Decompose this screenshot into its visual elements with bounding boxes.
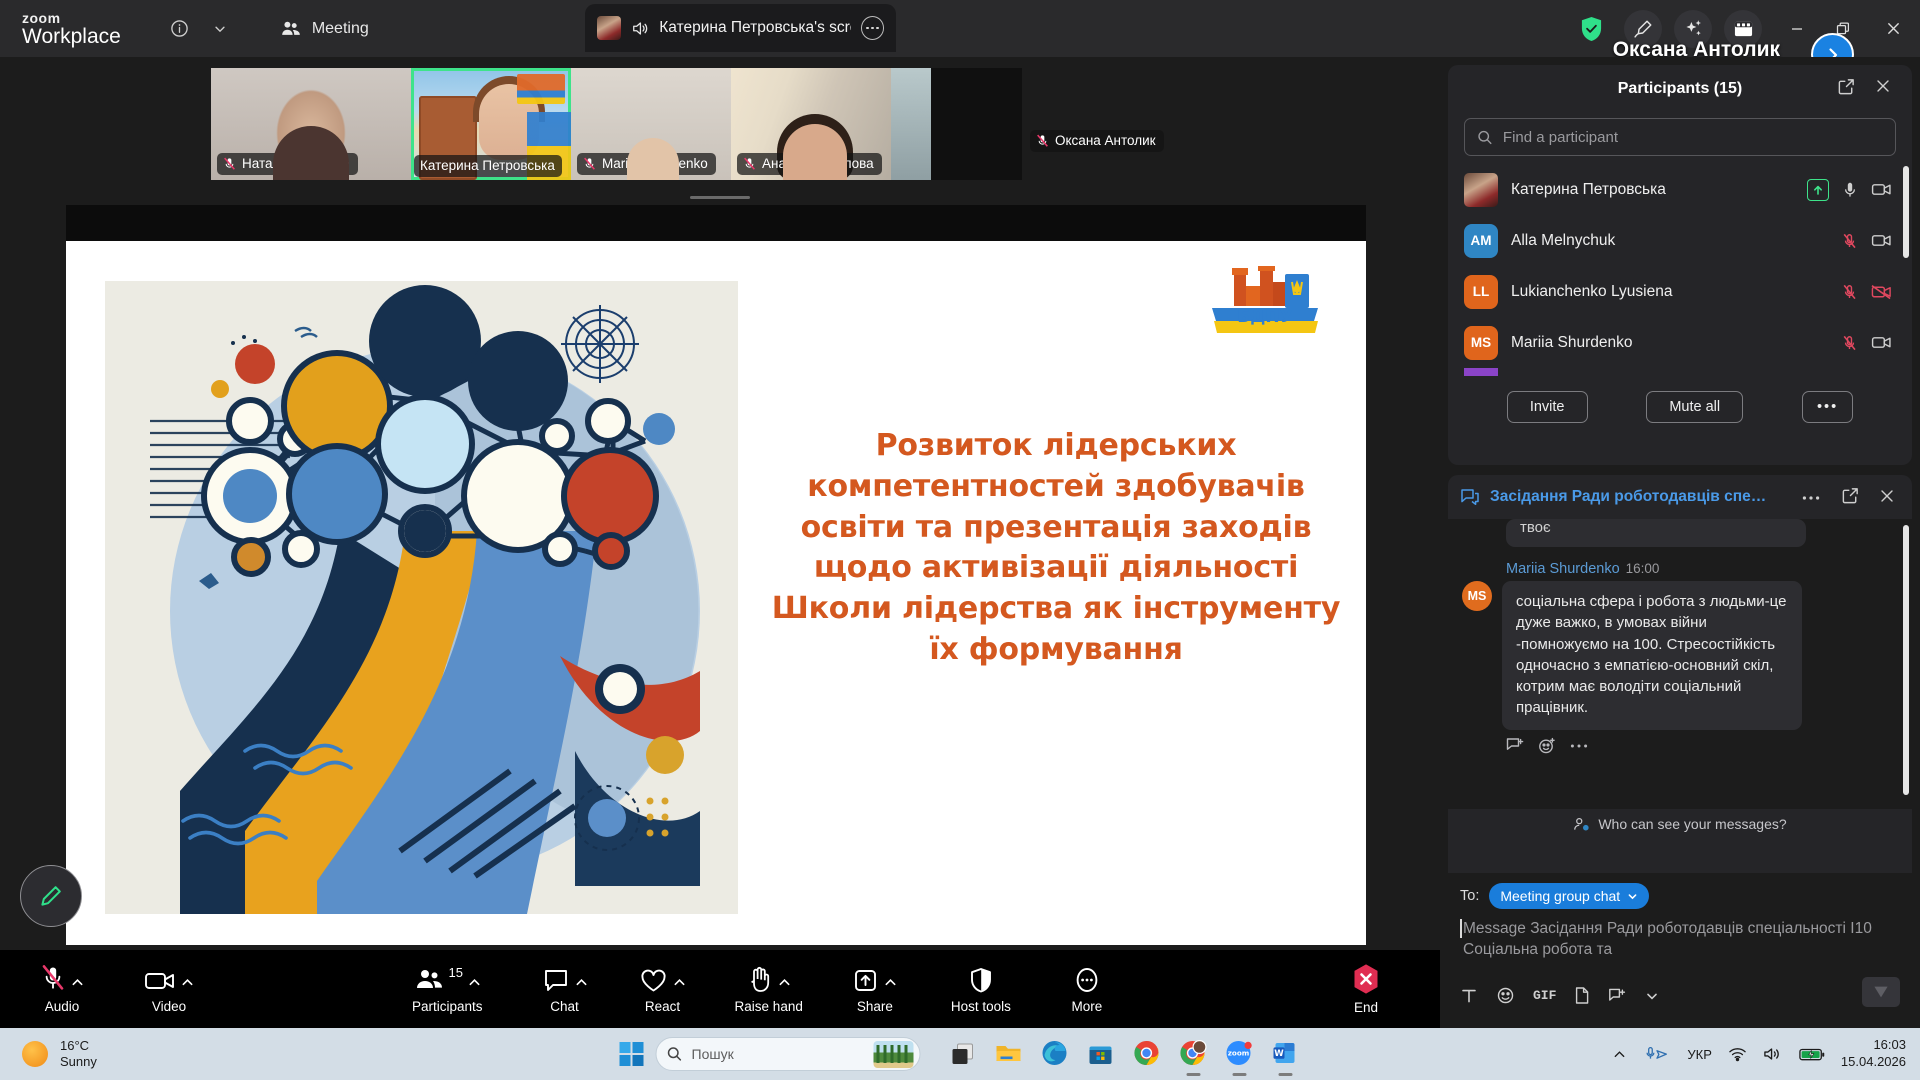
chevron-up-icon xyxy=(468,976,481,989)
more-dots-icon xyxy=(1073,964,1101,994)
gif-icon[interactable]: GIF xyxy=(1533,988,1556,1003)
more-button[interactable]: More xyxy=(1063,964,1111,1014)
taskbar-center: Пошук xyxy=(620,1037,1301,1071)
video-thumb[interactable]: Анастасія Попова xyxy=(731,68,891,180)
end-meeting-button[interactable]: End xyxy=(1350,963,1382,1015)
taskbar-search[interactable]: Пошук xyxy=(656,1037,921,1071)
meeting-tab-label: Meeting xyxy=(312,20,369,38)
emoji-icon[interactable] xyxy=(1496,986,1515,1005)
weather-condition: Sunny xyxy=(60,1054,97,1070)
chat-toolbar: GIF xyxy=(1460,986,1659,1005)
avatar: LL xyxy=(1464,275,1498,309)
chat-panel: Засідання Ради роботодавців спе… твоє xyxy=(1448,475,1912,1015)
microsoft-store-icon[interactable] xyxy=(1087,1039,1117,1069)
chat-button[interactable]: Chat xyxy=(541,964,589,1014)
participants-header: Participants (15) xyxy=(1448,65,1912,112)
right-side-panels: Participants (15) Катерина Пет xyxy=(1440,57,1920,1027)
show-hidden-icons-icon[interactable] xyxy=(1612,1047,1627,1062)
message-actions xyxy=(1506,737,1898,755)
language-indicator[interactable]: УКР xyxy=(1687,1047,1712,1062)
sharing-badge xyxy=(1807,179,1829,201)
clock-date: 15.04.2026 xyxy=(1841,1054,1906,1071)
raise-hand-button[interactable]: Raise hand xyxy=(735,964,803,1014)
people-icon xyxy=(281,20,301,38)
participant-row-partial[interactable] xyxy=(1448,368,1912,376)
chat-message-input[interactable]: Message Засідання Ради роботодавців спец… xyxy=(1460,918,1900,960)
participants-list[interactable]: Катерина Петровська AM Alla Melnychuk xyxy=(1448,164,1912,376)
mic-muted-icon xyxy=(583,157,596,171)
camera-icon[interactable] xyxy=(1871,335,1892,350)
chevron-up-icon xyxy=(181,976,194,989)
participant-name: Mariia Shurdenko xyxy=(1511,334,1632,352)
participants-actions: Invite Mute all ••• xyxy=(1448,376,1912,438)
video-thumb[interactable] xyxy=(891,68,1022,180)
popout-icon[interactable] xyxy=(1841,486,1860,510)
participant-row[interactable]: LL Lukianchenko Lyusiena xyxy=(1448,266,1912,317)
chrome-profile-icon[interactable] xyxy=(1179,1039,1209,1069)
reply-icon[interactable] xyxy=(1506,737,1524,754)
mic-muted-icon xyxy=(1036,134,1049,148)
tab-title: Катерина Петровська's scre xyxy=(659,19,851,37)
screen-share-tab[interactable]: Катерина Петровська's scre xyxy=(585,4,896,52)
chevron-up-icon xyxy=(575,976,588,989)
participants-label: Participants xyxy=(412,999,483,1014)
svg-text:БДПУ: БДПУ xyxy=(1237,307,1292,327)
avatar xyxy=(1464,368,1498,376)
end-call-icon xyxy=(1350,963,1382,995)
mic-muted-icon[interactable] xyxy=(1841,283,1858,301)
video-thumb-label: Катерина Петровська xyxy=(414,155,562,177)
search-icon xyxy=(667,1046,683,1062)
chat-header: Засідання Ради роботодавців спе… xyxy=(1448,475,1912,519)
host-tools-label: Host tools xyxy=(951,999,1011,1014)
end-label: End xyxy=(1354,1000,1378,1015)
participants-more-button[interactable]: ••• xyxy=(1802,391,1853,423)
shield-icon xyxy=(968,964,994,994)
shield-check-icon[interactable] xyxy=(1578,14,1604,44)
slide-title: Розвиток лідерських компетентностей здоб… xyxy=(766,426,1346,671)
message-time: 16:00 xyxy=(1626,561,1660,576)
svg-text:W: W xyxy=(1274,1049,1284,1059)
camera-icon[interactable] xyxy=(1871,233,1892,248)
more-label: More xyxy=(1072,999,1103,1014)
participants-panel: Participants (15) Катерина Пет xyxy=(1448,65,1912,465)
windows-taskbar: 16°C Sunny Пошук xyxy=(0,1028,1920,1080)
share-screen-icon xyxy=(852,964,897,994)
video-thumb-label: Mariia Shurdenko xyxy=(577,153,716,175)
share-button[interactable]: Share xyxy=(851,964,899,1014)
brand-zoom: zoom xyxy=(22,11,121,25)
shared-window-chrome xyxy=(66,205,1366,241)
more-dots-icon[interactable] xyxy=(1570,743,1588,749)
invite-button[interactable]: Invite xyxy=(1507,391,1588,423)
bdpu-university-logo: БДПУ xyxy=(1206,266,1324,338)
video-label: Video xyxy=(152,999,186,1014)
presentation-slide: БДПУ Розвиток лідерських компетентностей… xyxy=(66,241,1366,945)
participants-scrollbar[interactable] xyxy=(1903,166,1909,258)
mute-all-button[interactable]: Mute all xyxy=(1646,391,1743,423)
raise-hand-icon xyxy=(747,964,791,994)
camera-icon[interactable] xyxy=(1871,182,1892,197)
close-icon[interactable] xyxy=(1866,0,1920,57)
format-text-icon[interactable] xyxy=(1460,987,1478,1005)
chrome-icon[interactable] xyxy=(1133,1039,1163,1069)
participants-button[interactable]: 15 Participants xyxy=(412,964,483,1014)
zoom-workplace-logo: zoom Workplace xyxy=(22,11,121,47)
wifi-icon[interactable] xyxy=(1728,1046,1747,1062)
react-button[interactable]: React xyxy=(639,964,687,1014)
file-explorer-icon[interactable] xyxy=(995,1039,1025,1069)
chat-recipient-row: To: Meeting group chat xyxy=(1460,883,1900,909)
file-icon[interactable] xyxy=(1574,986,1590,1005)
camera-off-icon[interactable] xyxy=(1871,284,1892,300)
audio-label: Audio xyxy=(45,999,80,1014)
clock-time: 16:03 xyxy=(1841,1037,1906,1054)
system-tray: УКР 16:03 15.04.2026 xyxy=(1612,1037,1906,1071)
participants-count: 15 xyxy=(449,965,463,980)
more-dots-icon[interactable] xyxy=(1802,488,1820,506)
who-can-see-label: Who can see your messages? xyxy=(1598,816,1786,832)
participants-title: Participants (15) xyxy=(1618,80,1742,98)
video-thumb[interactable]: Наталія Мацейко xyxy=(211,68,411,180)
microphone-muted-icon xyxy=(40,964,84,994)
zoom-icon[interactable]: zoom xyxy=(1225,1039,1255,1069)
network-nodes-illustration xyxy=(105,281,738,914)
audio-button[interactable]: Audio xyxy=(38,964,86,1014)
info-icon[interactable] xyxy=(163,12,197,46)
chat-bubble-icon xyxy=(542,964,588,994)
video-thumb[interactable]: Mariia Shurdenko xyxy=(571,68,731,180)
meeting-tab[interactable]: Meeting xyxy=(271,14,379,44)
react-label: React xyxy=(645,999,680,1014)
volume-icon[interactable] xyxy=(1763,1046,1783,1062)
camera-icon xyxy=(144,964,194,994)
zoom-meeting-window: zoom Workplace Meeting Катери xyxy=(0,0,1920,1080)
mic-muted-icon[interactable] xyxy=(1841,334,1858,352)
popout-icon[interactable] xyxy=(1837,77,1856,101)
avatar: MS xyxy=(1464,326,1498,360)
recipient-value: Meeting group chat xyxy=(1500,888,1620,904)
participant-name: Alla Melnychuk xyxy=(1511,232,1615,250)
search-icon xyxy=(1477,129,1493,146)
search-highlight-image xyxy=(874,1041,914,1068)
send-icon xyxy=(1872,983,1890,1001)
chevron-up-icon xyxy=(71,976,84,989)
participant-name: Катерина Петровська xyxy=(1511,181,1666,199)
taskbar-clock[interactable]: 16:03 15.04.2026 xyxy=(1841,1037,1906,1071)
task-view-icon[interactable] xyxy=(949,1039,979,1069)
to-label: To: xyxy=(1460,888,1479,904)
participant-name: Lukianchenko Lyusiena xyxy=(1511,283,1672,301)
chat-title: Засідання Ради роботодавців спе… xyxy=(1490,488,1766,506)
screenshot-icon[interactable] xyxy=(1608,987,1627,1005)
tab-more-icon[interactable] xyxy=(861,16,884,40)
host-tools-button[interactable]: Host tools xyxy=(951,964,1011,1014)
raise-hand-label: Raise hand xyxy=(735,999,803,1014)
taskbar-apps: zoom W xyxy=(949,1039,1301,1069)
emoji-add-icon[interactable] xyxy=(1538,737,1556,755)
video-button[interactable]: Video xyxy=(144,964,194,1014)
avatar xyxy=(1464,173,1498,207)
participants-icon: 15 xyxy=(414,964,481,994)
drag-handle[interactable] xyxy=(690,196,750,199)
message-bubble: соціальна сфера і робота з людьми-це дуж… xyxy=(1502,581,1802,730)
chat-message: MS соціальна сфера і робота з людьми-це … xyxy=(1462,581,1898,730)
chat-label: Chat xyxy=(550,999,579,1014)
recipient-dropdown[interactable]: Meeting group chat xyxy=(1489,883,1649,909)
close-icon[interactable] xyxy=(1878,487,1896,510)
avatar: AM xyxy=(1464,224,1498,258)
chevron-down-icon[interactable] xyxy=(203,12,237,46)
person-shield-icon xyxy=(1573,817,1590,832)
close-icon[interactable] xyxy=(1874,77,1892,100)
brand-workplace: Workplace xyxy=(22,26,121,47)
message-meta: Mariia Shurdenko16:00 xyxy=(1506,561,1898,577)
video-filmstrip[interactable]: Наталія Мацейко Катерина Петровська Mari… xyxy=(211,68,1022,180)
edge-icon[interactable] xyxy=(1041,1039,1071,1069)
chat-input-area: To: Meeting group chat Message Засідання… xyxy=(1448,873,1912,1015)
previous-message-partial: твоє xyxy=(1506,519,1806,547)
tab-avatar xyxy=(597,16,621,40)
svg-text:zoom: zoom xyxy=(1228,1049,1250,1058)
mic-muted-icon[interactable] xyxy=(1841,232,1858,250)
windows-start-icon[interactable] xyxy=(620,1042,644,1066)
chevron-down-icon[interactable] xyxy=(1645,989,1659,1003)
avatar: MS xyxy=(1462,581,1492,611)
search-input[interactable] xyxy=(1503,129,1883,146)
video-thumb-label: Оксана Антолик xyxy=(1030,130,1164,152)
speaker-icon xyxy=(631,20,649,37)
video-thumb-active[interactable]: Катерина Петровська xyxy=(411,68,571,180)
chat-bubbles-icon xyxy=(1460,488,1480,506)
chevron-down-icon xyxy=(1627,891,1638,902)
search-placeholder: Пошук xyxy=(692,1046,734,1062)
battery-charging-icon[interactable] xyxy=(1799,1047,1825,1062)
mic-muted-icon xyxy=(743,157,756,171)
chevron-up-icon xyxy=(778,976,791,989)
participant-row[interactable]: MS Mariia Shurdenko xyxy=(1448,317,1912,368)
participant-row[interactable]: AM Alla Melnychuk xyxy=(1448,215,1912,266)
participant-search[interactable] xyxy=(1464,118,1896,156)
share-label: Share xyxy=(857,999,893,1014)
chat-scrollbar[interactable] xyxy=(1903,525,1909,795)
meeting-toolbar: Audio Video 15 Participants xyxy=(0,950,1440,1028)
mic-icon[interactable] xyxy=(1842,181,1858,199)
mic-muted-icon xyxy=(223,157,236,171)
who-can-see-bar[interactable]: Who can see your messages? xyxy=(1448,809,1912,839)
chat-messages[interactable]: твоє Mariia Shurdenko16:00 MS соціальна … xyxy=(1448,519,1912,809)
heart-icon xyxy=(639,964,686,994)
video-thumb-label: Анастасія Попова xyxy=(737,153,882,175)
mic-tray-icon[interactable] xyxy=(1643,1045,1671,1063)
pen-annotate-icon[interactable] xyxy=(20,865,82,927)
chevron-up-icon xyxy=(673,976,686,989)
send-button[interactable] xyxy=(1862,977,1900,1007)
weather-temperature: 16°C xyxy=(60,1038,97,1054)
participant-row[interactable]: Катерина Петровська xyxy=(1448,164,1912,215)
word-icon[interactable]: W xyxy=(1271,1039,1301,1069)
message-author: Mariia Shurdenko xyxy=(1506,561,1620,577)
chevron-up-icon xyxy=(884,976,897,989)
video-thumb-label: Наталія Мацейко xyxy=(217,153,358,175)
weather-widget[interactable]: 16°C Sunny xyxy=(22,1038,97,1071)
sun-icon xyxy=(22,1041,48,1067)
